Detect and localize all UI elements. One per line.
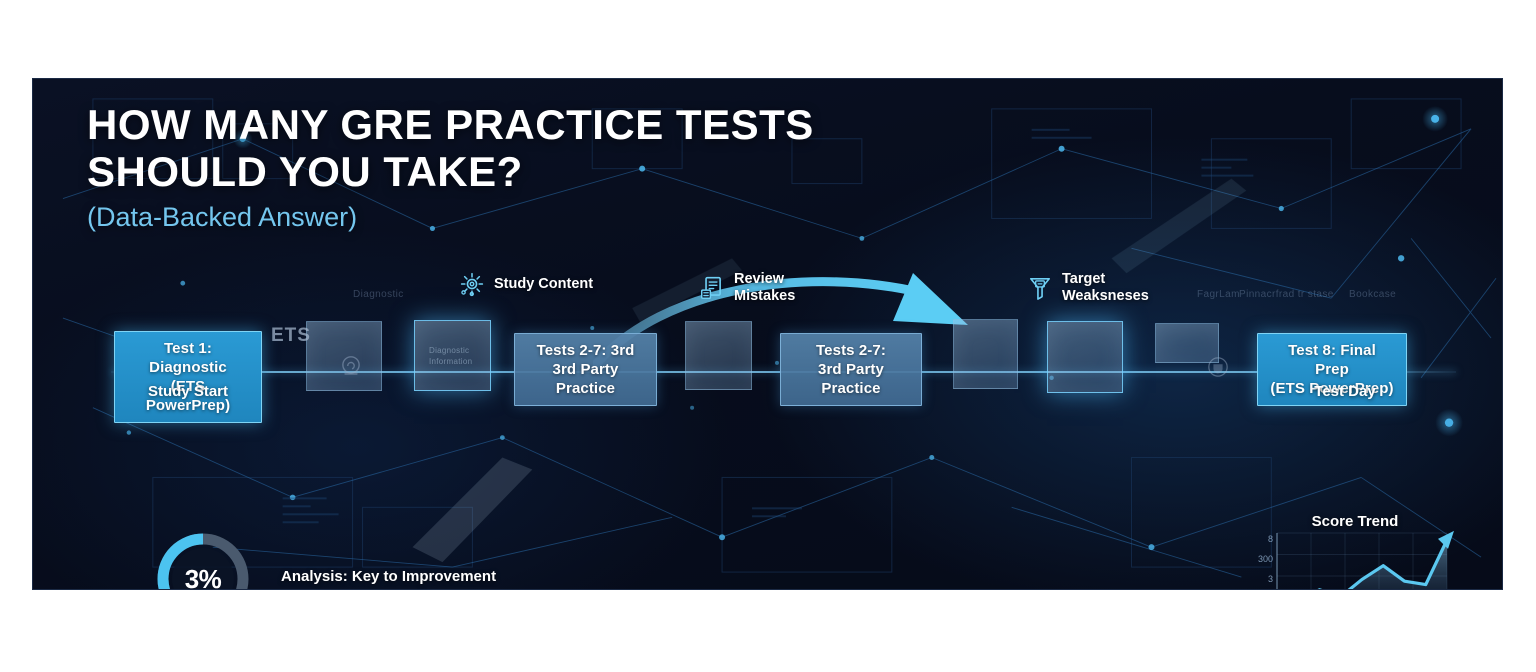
timeline-chip-tests-2-7-right[interactable]: Tests 2-7:3rd Party Practice — [780, 333, 922, 406]
chip-line-1: Test 8: Final Prep — [1270, 341, 1394, 379]
ghost-card — [953, 319, 1018, 389]
partner-logo-icon — [1207, 356, 1229, 378]
analysis-title: Analysis: Key to Improvement — [281, 567, 496, 587]
title-line-1: HOW MANY GRE PRACTICE TESTS — [87, 101, 987, 148]
chip-line-1: Tests 2-7: 3rd — [527, 341, 644, 360]
icon-label-text: Study Content — [494, 276, 593, 293]
gear-settings-icon — [459, 271, 485, 297]
title-subtitle: (Data-Backed Answer) — [87, 197, 987, 237]
ghost-card — [1047, 321, 1123, 393]
watermark-text: Pinnacrfrad tr stase — [1239, 289, 1334, 300]
title-line-2: SHOULD YOU TAKE? — [87, 148, 987, 195]
ghost-card — [685, 321, 752, 390]
ghost-card-text: Diagnostic Information — [415, 321, 490, 367]
timeline-caption-test-day: Test Day — [1271, 383, 1419, 400]
donut-percent-label: 3% — [153, 529, 253, 590]
score-trend-chart: 018201010102033008 — [1255, 511, 1455, 590]
timeline-chip-test-1-diagnostic[interactable]: Test 1: Diagnostic(ETS PowerPrep) — [114, 331, 262, 423]
svg-text:8: 8 — [1268, 534, 1273, 544]
chip-line-2: 3rd Party Practice — [793, 360, 909, 398]
icon-label-text: Target Weaksneses — [1062, 271, 1149, 305]
svg-text:300: 300 — [1258, 554, 1273, 564]
chip-line-1: Test 1: Diagnostic — [127, 339, 249, 377]
ghost-card: Diagnostic Information — [414, 320, 491, 391]
ets-logo-text: ETS — [271, 325, 311, 347]
watermark-text: Bookcase — [1349, 289, 1396, 300]
infographic-panel: HOW MANY GRE PRACTICE TESTS SHOULD YOU T… — [32, 78, 1503, 590]
analysis-donut-chart: 3% — [153, 529, 253, 590]
analysis-text-block: Analysis: Key to Improvement 6-8 hours p… — [281, 567, 496, 590]
chip-line-1: Tests 2-7: — [793, 341, 909, 360]
svg-text:3: 3 — [1268, 574, 1273, 584]
icon-label-2: Review Mistakes — [699, 271, 795, 305]
timeline-caption-study-start: Study Start — [114, 383, 262, 400]
watermark-text: FagrLam — [1197, 289, 1240, 300]
infographic-root: HOW MANY GRE PRACTICE TESTS SHOULD YOU T… — [0, 0, 1536, 672]
icon-label-1: Study Content — [459, 271, 593, 297]
watermark-text: Diagnostic — [353, 289, 404, 300]
analysis-subtitle: 6-8 hours per test — [281, 589, 496, 590]
icon-label-text: Review Mistakes — [734, 271, 795, 305]
document-list-icon — [699, 275, 725, 301]
page-title: HOW MANY GRE PRACTICE TESTS SHOULD YOU T… — [87, 101, 987, 237]
icon-label-3: Target Weaksneses — [1027, 271, 1149, 305]
target-funnel-icon — [1027, 275, 1053, 301]
chip-line-2: 3rd Party Practice — [527, 360, 644, 398]
diagnostic-badge-icon — [338, 353, 364, 379]
timeline-chip-tests-2-7-left[interactable]: Tests 2-7: 3rd3rd Party Practice — [514, 333, 657, 406]
